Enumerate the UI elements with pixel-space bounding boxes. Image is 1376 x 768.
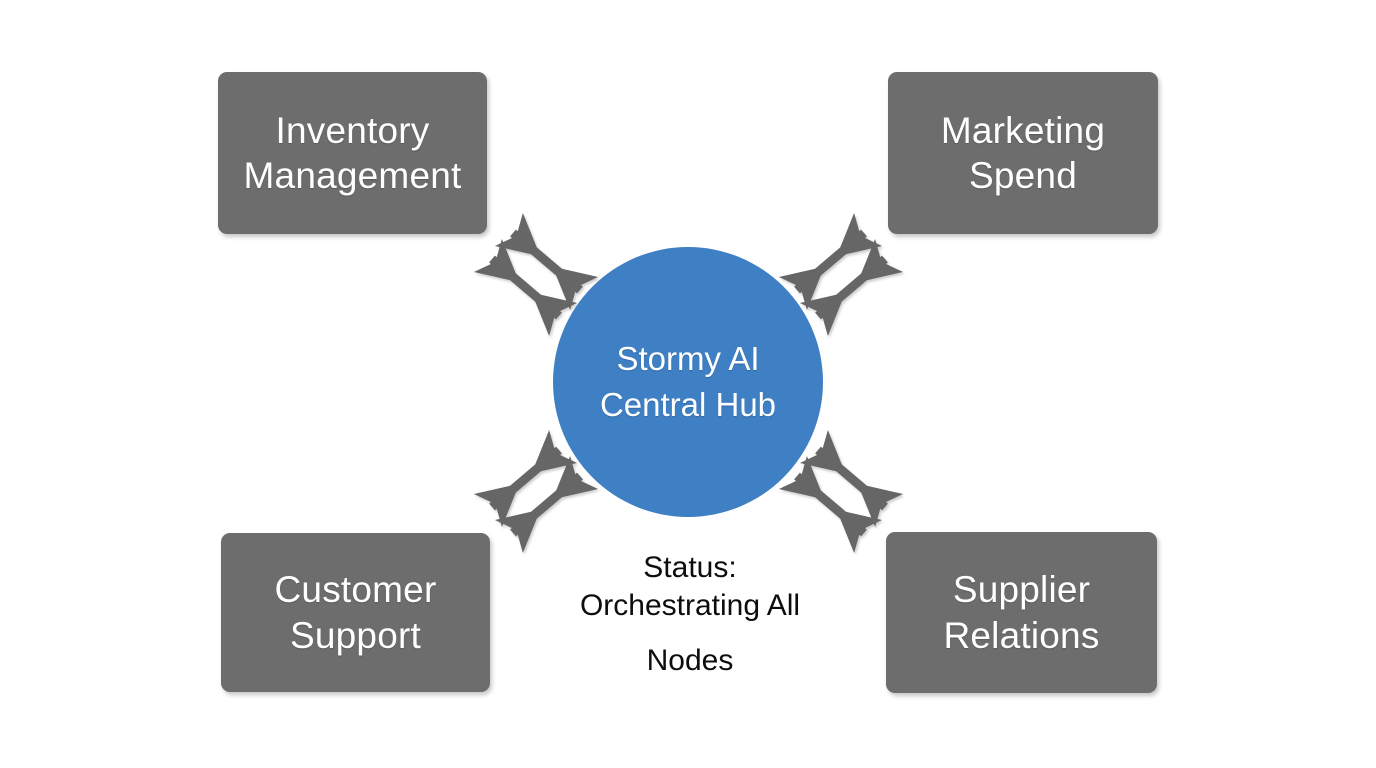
node-customer-support[interactable]: Customer Support [221, 533, 490, 692]
node-supplier-relations[interactable]: Supplier Relations [886, 532, 1157, 693]
connector-hub-to-customer-support [492, 450, 580, 533]
connector-hub-to-marketing-spend [797, 233, 885, 316]
node-marketing-spend[interactable]: Marketing Spend [888, 72, 1158, 234]
node-label-inventory-management: Inventory Management [244, 108, 462, 198]
status-line-3: Nodes [540, 642, 840, 680]
connector-hub-to-inventory-management [492, 233, 580, 316]
diagram-canvas: Inventory Management Marketing Spend Cus… [0, 0, 1376, 768]
node-label-supplier-relations: Supplier Relations [943, 567, 1099, 657]
connector-hub-to-supplier-relations [797, 450, 885, 533]
central-hub-label: Stormy AI Central Hub [600, 336, 776, 427]
node-inventory-management[interactable]: Inventory Management [218, 72, 487, 234]
central-hub-node[interactable]: Stormy AI Central Hub [553, 247, 823, 517]
status-line-1: Status: [643, 551, 736, 584]
status-text: Status: Orchestrating All Nodes [540, 549, 840, 680]
node-label-marketing-spend: Marketing Spend [941, 108, 1105, 198]
node-label-customer-support: Customer Support [275, 567, 437, 657]
status-line-2: Orchestrating All [580, 589, 800, 622]
